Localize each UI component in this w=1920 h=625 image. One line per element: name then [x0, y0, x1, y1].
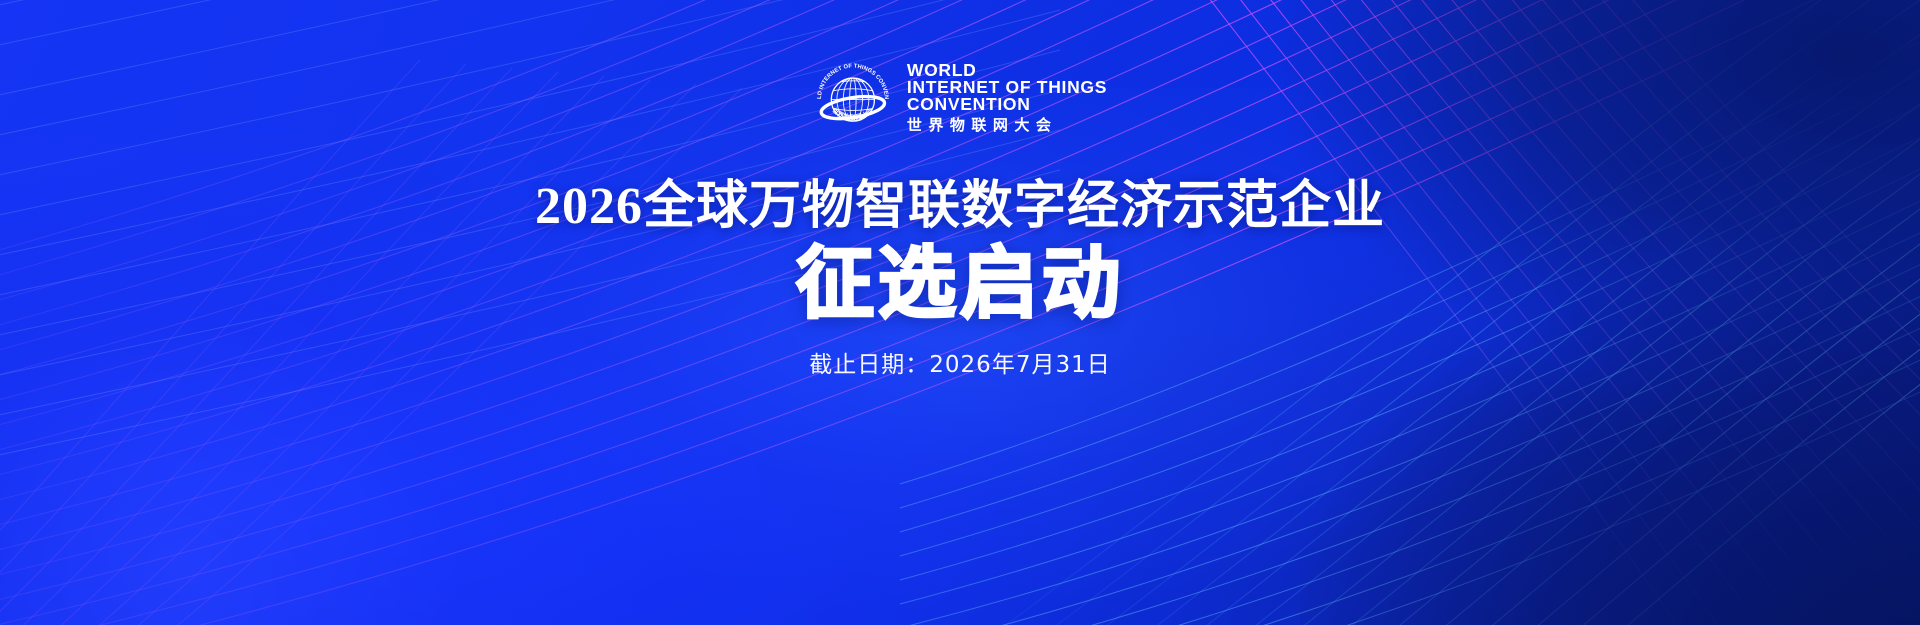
banner-content: WORLD INTERNET OF THINGS CONVENTION — [0, 0, 1920, 625]
logo-chinese-name: 世界物联网大会 — [907, 116, 1107, 135]
promo-banner: WORLD INTERNET OF THINGS CONVENTION — [0, 0, 1920, 625]
logo-wordmark: WORLD INTERNET OF THINGS CONVENTION 世界物联… — [907, 62, 1107, 135]
globe-orbit-emblem-icon: WORLD INTERNET OF THINGS CONVENTION — [813, 58, 893, 138]
headline: 征选启动 — [796, 238, 1124, 330]
logo-english-line-1: WORLD — [907, 62, 1107, 79]
logo-english-line-2: INTERNET OF THINGS — [907, 79, 1107, 96]
page-title: 2026全球万物智联数字经济示范企业 — [535, 178, 1385, 236]
logo-lockup: WORLD INTERNET OF THINGS CONVENTION — [813, 58, 1107, 138]
deadline-text: 截止日期：2026年7月31日 — [809, 350, 1110, 380]
logo-english-line-3: CONVENTION — [907, 96, 1107, 113]
